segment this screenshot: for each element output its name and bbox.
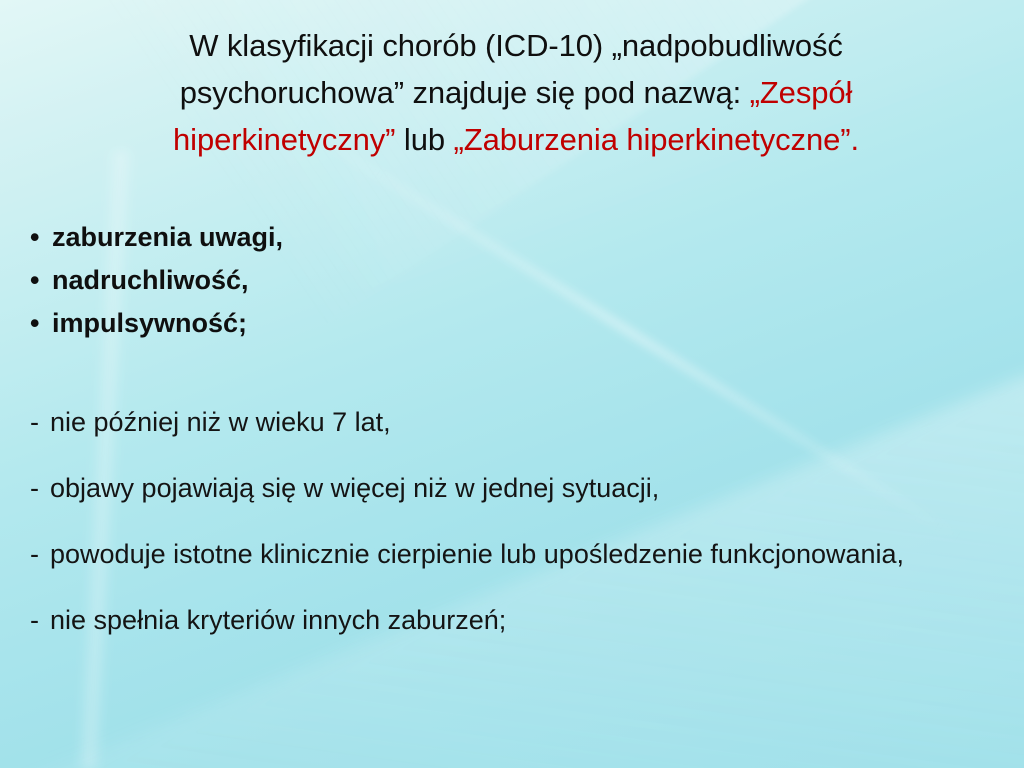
list-item-label: impulsywność; (52, 302, 670, 345)
list-item: - powoduje istotne klinicznie cierpienie… (30, 537, 980, 571)
dash-marker-icon: - (30, 537, 50, 571)
list-item: • zaburzenia uwagi, (30, 216, 670, 259)
list-item-label: objawy pojawiają się w więcej niż w jedn… (50, 471, 980, 505)
slide-title: W klasyfikacji chorób (ICD-10) „nadpobud… (96, 22, 936, 163)
bullet-dot-icon: • (30, 259, 52, 302)
list-item: - nie później niż w wieku 7 lat, (30, 405, 980, 439)
title-segment-accent-2: „Zaburzenia hiperkinetyczne”. (454, 122, 859, 157)
list-item-label: powoduje istotne klinicznie cierpienie l… (50, 537, 980, 571)
title-segment-plain-2: lub (395, 122, 453, 157)
list-item-label: nie później niż w wieku 7 lat, (50, 405, 980, 439)
bullet-dot-icon: • (30, 302, 52, 345)
list-item: • impulsywność; (30, 302, 670, 345)
dash-marker-icon: - (30, 405, 50, 439)
dash-marker-icon: - (30, 603, 50, 637)
list-item-label: nadruchliwość, (52, 259, 670, 302)
list-item: - nie spełnia kryteriów innych zaburzeń; (30, 603, 980, 637)
bullet-dot-icon: • (30, 216, 52, 259)
list-item-label: zaburzenia uwagi, (52, 216, 670, 259)
list-item-label: nie spełnia kryteriów innych zaburzeń; (50, 603, 980, 637)
list-item: - objawy pojawiają się w więcej niż w je… (30, 471, 980, 505)
symptom-bullet-list: • zaburzenia uwagi, • nadruchliwość, • i… (30, 216, 670, 345)
list-item: • nadruchliwość, (30, 259, 670, 302)
criteria-dash-list: - nie później niż w wieku 7 lat, - objaw… (30, 405, 980, 637)
slide-canvas: W klasyfikacji chorób (ICD-10) „nadpobud… (0, 0, 1024, 768)
dash-marker-icon: - (30, 471, 50, 505)
